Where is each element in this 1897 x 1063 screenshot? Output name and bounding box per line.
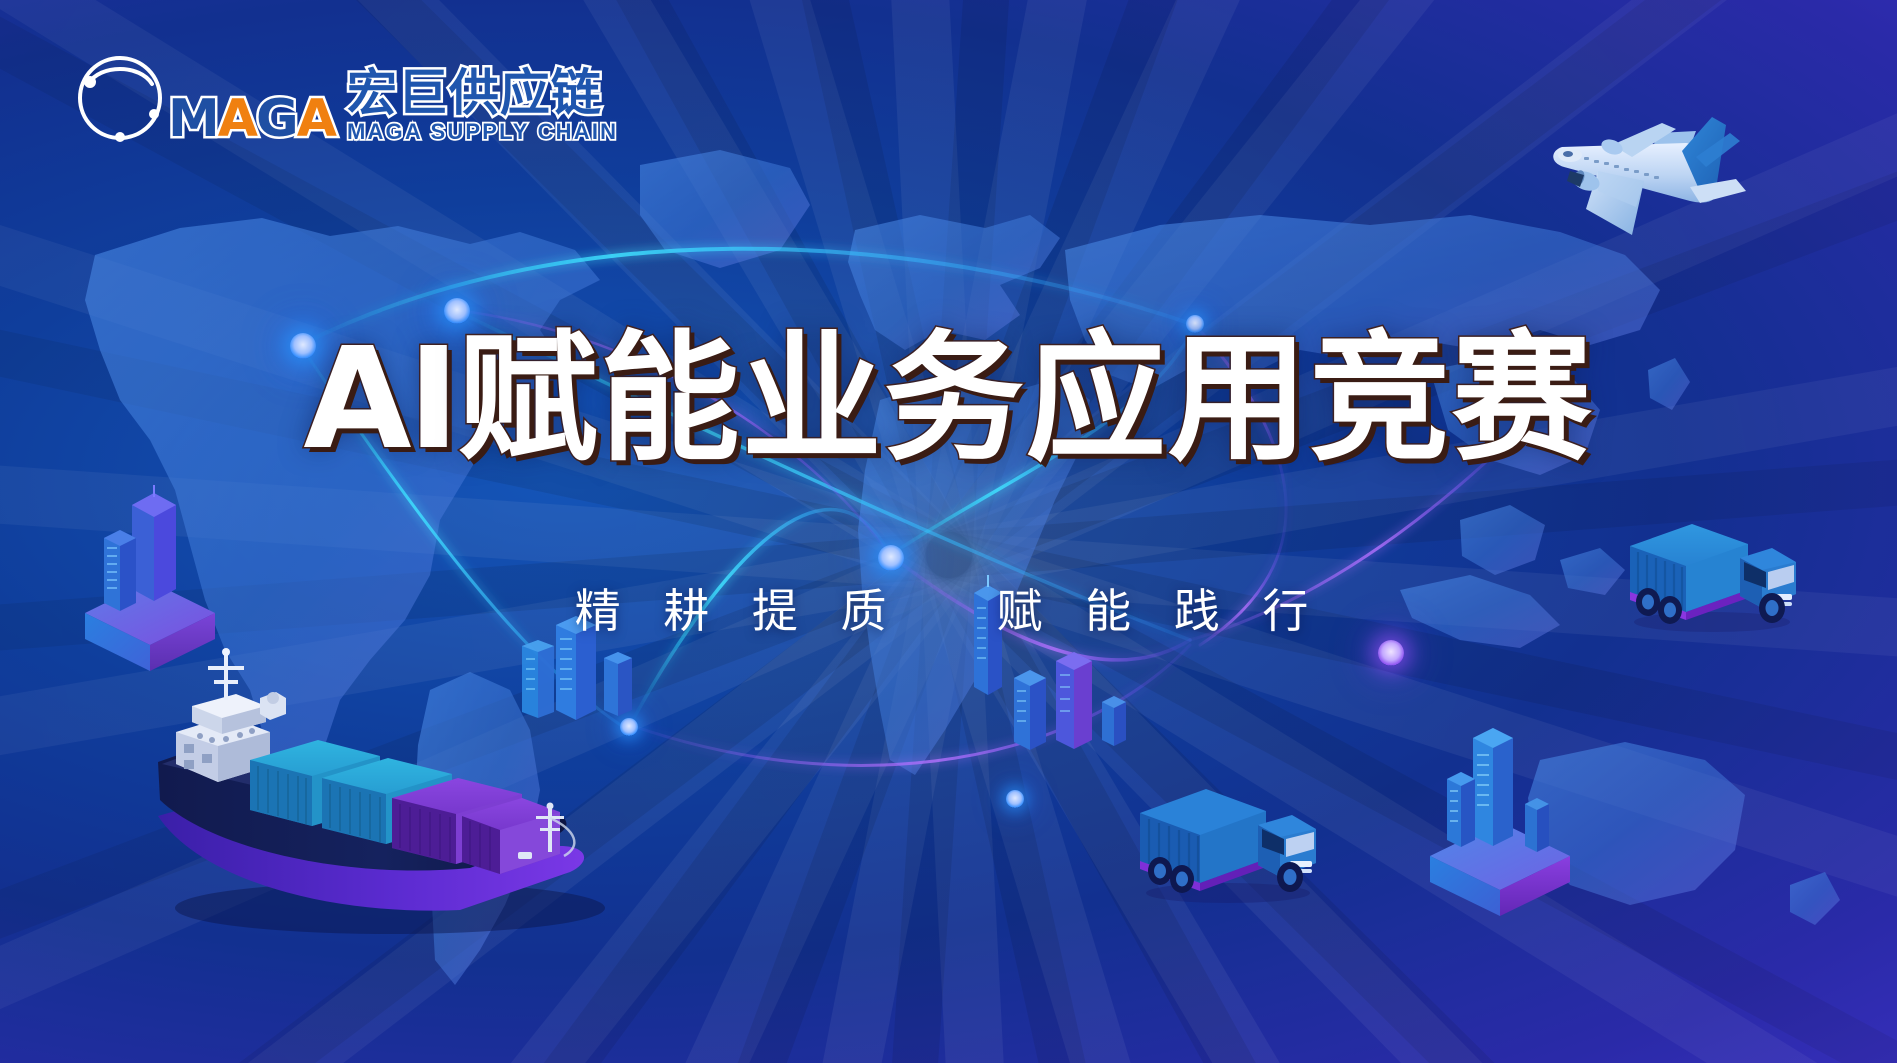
background-ray [944,0,1897,589]
globe-orbit-icon [72,48,168,144]
background-ray [922,0,1897,573]
truck-icon-center [1130,775,1320,905]
headline-rest: 赋能业务应用竞赛 [458,318,1594,481]
brand-mark-maga: MAGA [168,96,335,143]
background-ray [920,0,1782,566]
network-node-icon [878,545,904,571]
maga-letter-a1: A [218,89,256,149]
network-node-icon [620,718,638,736]
background-rays [0,0,1897,1063]
network-arcs [0,0,1897,1063]
background-ray-dark [930,0,1897,568]
network-node-icon [1378,640,1404,666]
headline-prefix: AI [303,318,455,481]
airplane-icon [1540,95,1790,245]
cargo-ship-icon [140,640,630,940]
background-ray-dark [935,0,1897,573]
subtitle-right: 赋 能 践 行 [997,584,1323,638]
city-buildings-icon [1000,640,1130,760]
network-node-icon [1006,790,1024,808]
city-buildings-icon [1425,710,1575,920]
maga-letter-g: G [256,89,297,149]
background-ray [931,0,1897,583]
background-ray-dark [940,0,1897,576]
maga-letter-a2: A [297,89,335,149]
world-map-graphic [0,0,1897,1063]
background-rays-dark [0,0,1897,1063]
background-ray [937,0,1897,587]
poster-headline: AI赋能业务应用竞赛 [0,330,1897,470]
poster-canvas: MAGA 宏巨供应链 MAGA SUPPLY CHAIN AI赋能业务应用竞赛 … [0,0,1897,1063]
brand-logo[interactable]: MAGA 宏巨供应链 MAGA SUPPLY CHAIN [72,46,618,144]
maga-letter-m: M [168,89,218,149]
poster-subtitle: 精 耕 提 质赋 能 践 行 [0,575,1897,641]
brand-english-name: MAGA SUPPLY CHAIN [347,121,618,143]
background-ray [926,0,1897,579]
subtitle-left: 精 耕 提 质 [575,584,901,638]
brand-chinese-name: 宏巨供应链 [347,68,618,118]
